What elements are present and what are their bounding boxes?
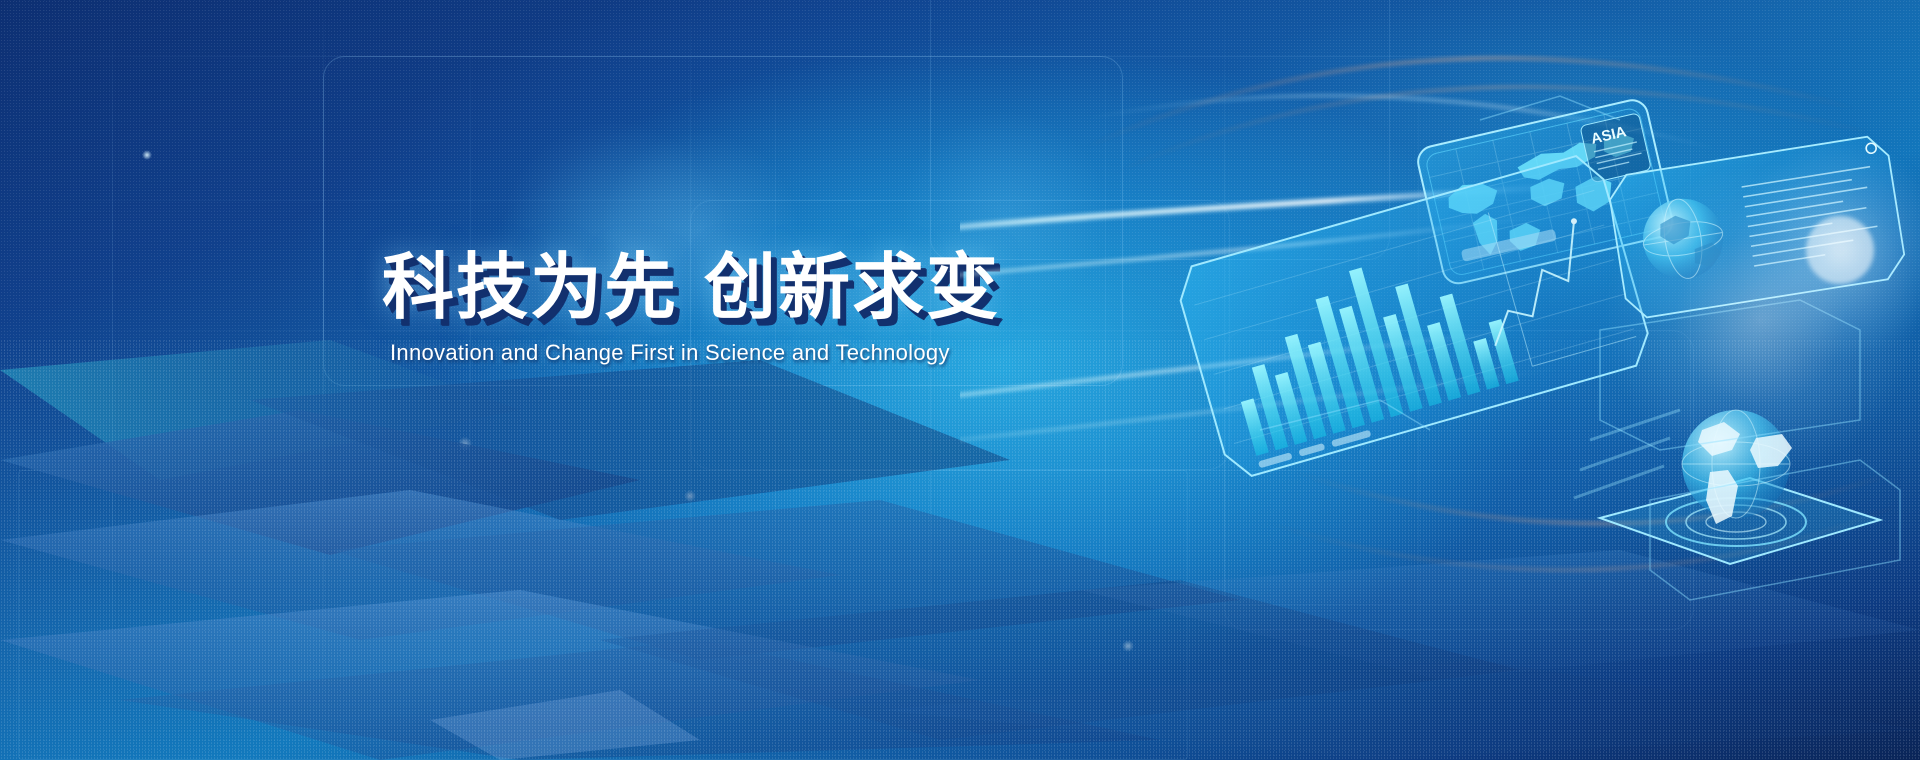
background-noise	[0, 0, 1920, 760]
headline-part-two: 创新求变	[704, 248, 1000, 328]
page-title: 科技为先创新求变	[382, 252, 1022, 324]
hero-copy-block: 科技为先创新求变 Innovation and Change First in …	[382, 252, 1022, 364]
page-subtitle: Innovation and Change First in Science a…	[390, 342, 1022, 364]
tech-hero-banner: 科技为先创新求变 Innovation and Change First in …	[0, 0, 1920, 760]
headline-part-one: 科技为先	[382, 248, 678, 328]
